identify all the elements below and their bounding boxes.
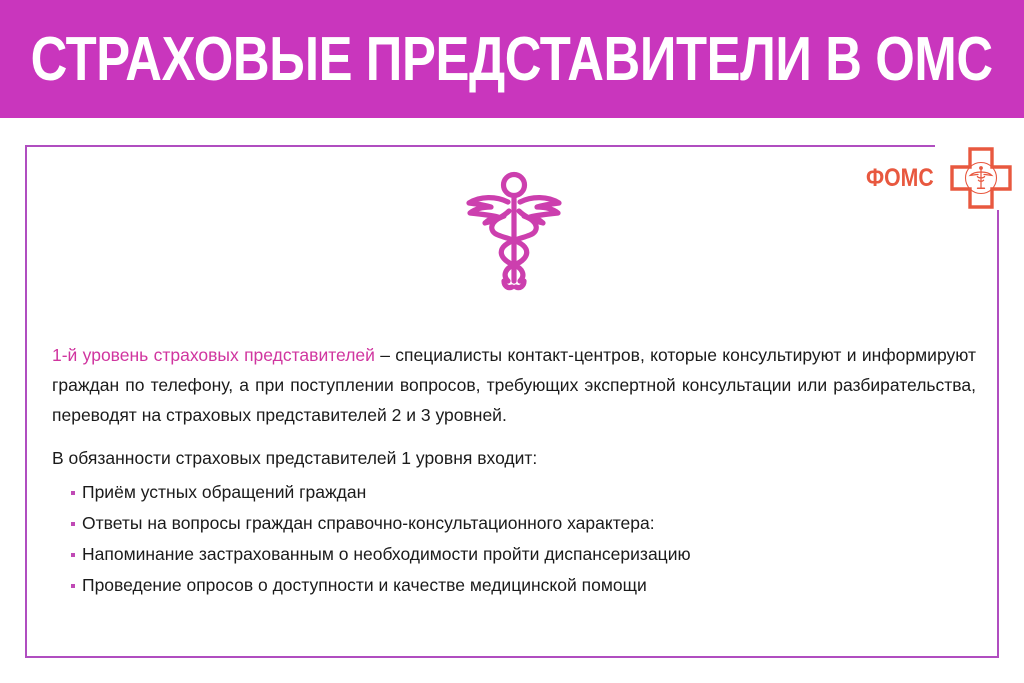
header-banner: СТРАХОВЫЕ ПРЕДСТАВИТЕЛИ В ОМС [0,0,1024,118]
lead-paragraph: 1-й уровень страховых представителей – с… [52,340,976,430]
card-border-left [25,145,27,658]
card-border-bottom [25,656,999,658]
lead-highlight: 1-й уровень страховых представителей [52,345,375,365]
bullet-icon [71,553,75,557]
list-item-label: Приём устных обращений граждан [82,482,366,502]
list-item: Ответы на вопросы граждан справочно-конс… [52,508,976,539]
page-title: СТРАХОВЫЕ ПРЕДСТАВИТЕЛИ В ОМС [31,29,993,91]
card-border-top [25,145,935,147]
bullet-icon [71,522,75,526]
duties-list: Приём устных обращений граждан Ответы на… [52,477,976,601]
list-item-label: Напоминание застрахованным о необходимос… [82,544,691,564]
list-item-label: Проведение опросов о доступности и качес… [82,575,647,595]
list-item: Проведение опросов о доступности и качес… [52,570,976,601]
list-item: Напоминание застрахованным о необходимос… [52,539,976,570]
list-item-label: Ответы на вопросы граждан справочно-конс… [82,513,655,533]
medical-cross-caduceus-icon [948,145,1014,211]
bullet-icon [71,491,75,495]
foms-logo: ФОМС [866,143,1000,213]
bullet-icon [71,584,75,588]
duties-intro: В обязанности страховых представителей 1… [52,445,976,471]
list-item: Приём устных обращений граждан [52,477,976,508]
foms-wordmark: ФОМС [866,164,934,193]
caduceus-emblem [446,163,582,299]
card-border-right [997,210,999,658]
